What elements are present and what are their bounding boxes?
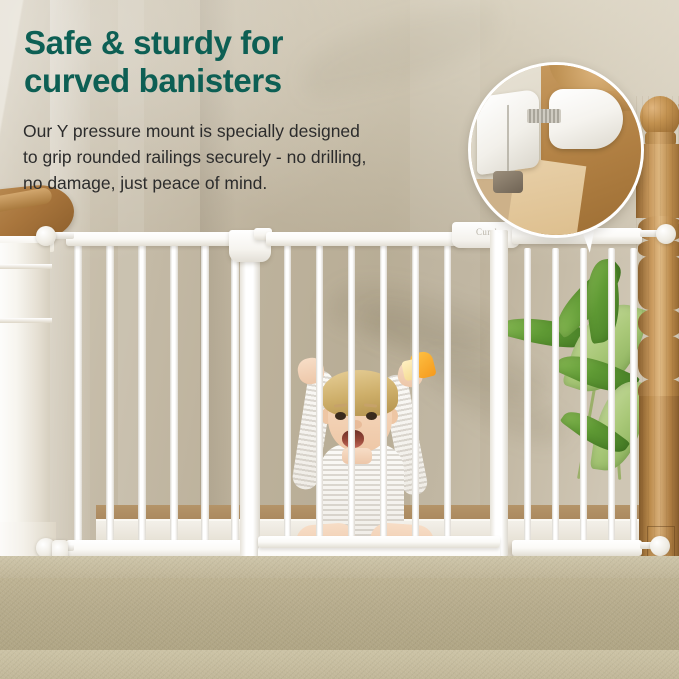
stair-next-tread (0, 650, 679, 679)
handrail-curve (672, 104, 679, 224)
baby-right-leg (369, 522, 435, 560)
baby-mouth (342, 430, 364, 448)
toddler (276, 352, 466, 564)
inset-callout (460, 62, 650, 260)
headline-line-2: curved banisters (24, 62, 454, 100)
body-line-2: to grip rounded railings securely - no d… (23, 144, 473, 170)
inset-metal-bracket (493, 171, 523, 193)
stair-riser (0, 578, 679, 656)
page-headline: Safe & sturdy for curved banisters (24, 24, 454, 100)
carpet-texture (0, 578, 679, 656)
page-body-text: Our Y pressure mount is specially design… (23, 118, 473, 196)
product-image-scene: Cumbor Safe & sturdy for curved banister… (0, 0, 679, 679)
body-line-1: Our Y pressure mount is specially design… (23, 118, 473, 144)
left-post-ring-1 (0, 264, 52, 269)
inset-threaded-screw (527, 109, 561, 123)
baby-left-eye (335, 412, 346, 420)
headline-line-1: Safe & sturdy for (24, 24, 454, 62)
body-line-3: no damage, just peace of mind. (23, 170, 473, 196)
baby-hair (322, 370, 398, 416)
baby-nose (350, 420, 362, 429)
inset-callout-circle (468, 62, 644, 238)
carpet-texture (0, 650, 679, 679)
baby-left-foot (340, 538, 364, 558)
baby-right-eye (366, 412, 377, 420)
left-post-ring-2 (0, 318, 52, 323)
inset-pad-seam (507, 105, 509, 171)
baby-neck (342, 448, 372, 464)
